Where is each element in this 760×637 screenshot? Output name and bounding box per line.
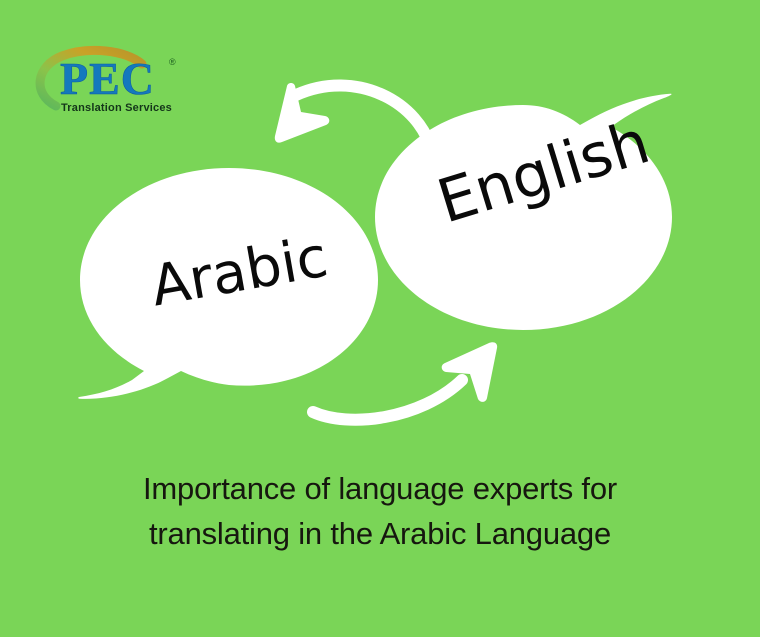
caption-line-2: translating in the Arabic Language [0, 511, 760, 556]
caption-line-1: Importance of language experts for [0, 466, 760, 511]
registered-trademark-icon: ® [169, 58, 176, 67]
logo-wordmark: PEC [60, 56, 155, 102]
caption-block: Importance of language experts for trans… [0, 466, 760, 556]
logo-tagline: Translation Services [61, 102, 172, 114]
arrow-top-to-arabic [275, 83, 432, 152]
arrow-bottom-to-english [313, 342, 497, 419]
pec-logo[interactable]: PEC ® Translation Services [26, 44, 186, 124]
poster-canvas: Arabic English PEC ® Translation Service… [0, 0, 760, 637]
